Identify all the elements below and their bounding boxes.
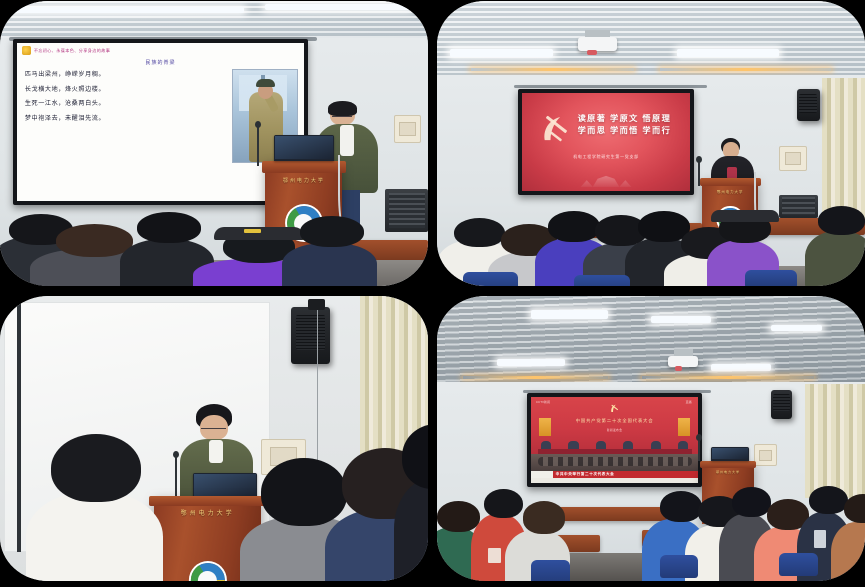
power-outlet-top-left [394, 115, 422, 143]
wall-speaker-bottom-right [771, 390, 792, 419]
microphone-top-left [257, 126, 259, 166]
hammer-and-sickle-emblem-icon [608, 403, 621, 414]
ceiling-projector-bottom-right [668, 356, 698, 367]
slide-heading: 民族的脊梁 [17, 59, 304, 66]
power-outlet-top-right [779, 146, 807, 171]
slide-surface: 不忘初心、永葆本色、分享身边的故事 民族的脊梁 匹马出梁州，峥嵘岁月稠。 长戈横… [17, 43, 304, 200]
hammer-and-sickle-emblem-icon [537, 111, 576, 150]
broadcast-stage-subtitle: 新闻发布会 [531, 428, 698, 432]
photo-top-right[interactable]: 读原著 学原文 悟原理 学而思 学而悟 学而行 机电工程学院研究生第一党支部 鄂… [437, 1, 865, 286]
slide-title-block: 读原著 学原文 悟原理 学而思 学而悟 学而行 [578, 113, 682, 137]
audience-bottom-left [0, 410, 428, 581]
photo-collage: 不忘初心、永葆本色、分享身边的故事 民族的脊梁 匹马出梁州，峥嵘岁月稠。 长戈横… [0, 0, 865, 587]
poem-line: 生死一江水，沧桑两白头。 [25, 98, 228, 107]
poem-lines: 匹马出梁州，峥嵘岁月稠。 长戈横大地，烽火照边楼。 生死一江水，沧桑两白头。 梦… [25, 69, 228, 163]
photo-bottom-right[interactable]: CCTV新闻 直播 中国共产党第二十次全国代表大会 新闻发布会 中共中央举行第二… [437, 296, 865, 581]
poem-line: 梦中袍泽去，未醒泪先流。 [25, 113, 228, 122]
poem-line: 长戈横大地，烽火照边楼。 [25, 84, 228, 93]
ceiling-projector-top-right [578, 37, 617, 51]
podium-name-text: 鄂州电力大学 [265, 177, 342, 184]
poem-line: 匹马出梁州，峥嵘岁月稠。 [25, 69, 228, 78]
broadcast-stage-title: 中国共产党第二十次全国代表大会 [531, 418, 698, 424]
wall-speaker-top-right [797, 89, 821, 120]
slide-subtitle: 机电工程学院研究生第一党支部 [522, 154, 689, 160]
photo-bottom-left[interactable]: 鄂州电力大学 [0, 296, 428, 581]
projection-screen-top-left: 不忘初心、永葆本色、分享身边的故事 民族的脊梁 匹马出梁州，峥嵘岁月稠。 长戈横… [13, 39, 308, 204]
wall-speaker-bottom-left [291, 307, 330, 364]
audience-bottom-right [437, 453, 865, 581]
audience-top-left [0, 189, 428, 286]
laptop-top-left [274, 135, 334, 161]
audience-top-right [437, 172, 865, 286]
slide-title-line2: 学而思 学而悟 学而行 [578, 125, 682, 137]
photo-top-left[interactable]: 不忘初心、永葆本色、分享身边的故事 民族的脊梁 匹马出梁州，峥嵘岁月稠。 长戈横… [0, 1, 428, 286]
party-emblem-gold-icon [22, 46, 31, 55]
channel-logo-left: CCTV新闻 [536, 400, 550, 404]
slide-title-line1: 读原著 学原文 悟原理 [578, 113, 682, 125]
slide-banner-text: 不忘初心、永葆本色、分享身边的故事 [34, 48, 110, 54]
channel-logo-right: 直播 [686, 400, 692, 404]
